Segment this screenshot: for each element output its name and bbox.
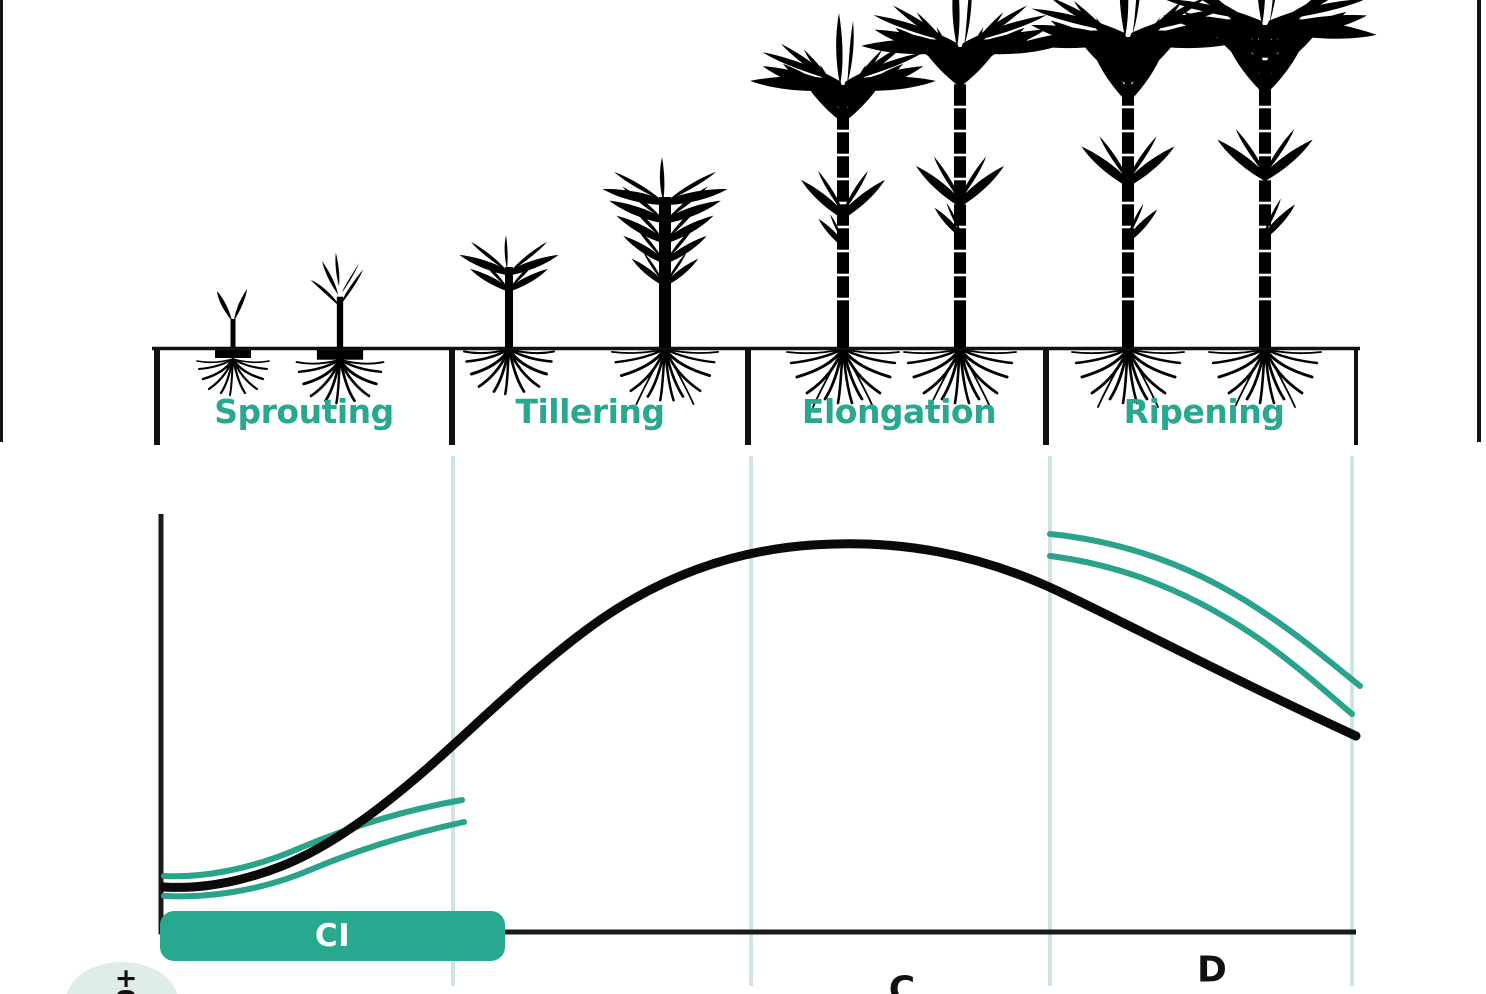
stage-label-elongation: Elongation	[802, 392, 996, 431]
growth-curve-chart-panel: CI + 8 0 A B C D Sprouting Tillering Elo…	[0, 446, 1486, 994]
y-axis-top-label: + 8	[98, 967, 154, 994]
stage-label-tillering: Tillering	[515, 392, 664, 431]
y-axis-top-value: 8	[98, 990, 154, 994]
chart-axes	[159, 514, 1356, 934]
curve-label-c: C	[889, 970, 915, 994]
stage-label-sprouting: Sprouting	[214, 392, 394, 431]
stage-plants-ripening	[1009, 0, 1389, 407]
ci-upper-sprouting	[164, 800, 462, 876]
stage-illustrations-svg	[0, 0, 1486, 446]
stage-plants-sprouting	[197, 253, 383, 404]
ci-badge[interactable]: CI	[160, 911, 505, 961]
stage-plants-tillering	[459, 157, 729, 404]
chart-gridlines	[453, 456, 1352, 986]
curve-label-d: D	[1197, 950, 1227, 991]
growth-stage-illustration-panel: Sprouting Tillering Elongation Ripening	[0, 0, 1486, 446]
stage-plants-elongation	[743, 0, 1067, 407]
ci-badge-label: CI	[315, 918, 350, 954]
ci-band-ripening	[1050, 534, 1360, 714]
figure-canvas: Sprouting Tillering Elongation Ripening	[0, 0, 1486, 994]
stage-label-ripening: Ripening	[1124, 392, 1285, 431]
ci-lower-ripening	[1050, 556, 1352, 714]
